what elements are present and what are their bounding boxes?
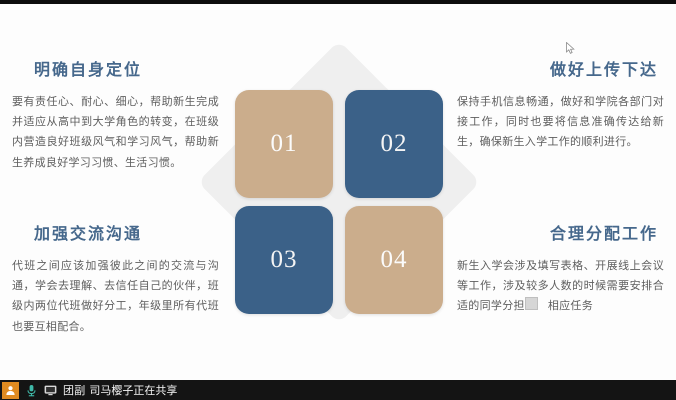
tile-01: 01 xyxy=(235,90,333,198)
tile-01-number: 01 xyxy=(271,130,298,158)
tile-02-number: 02 xyxy=(381,130,408,158)
microphone-button[interactable] xyxy=(25,383,38,397)
quadrant-top-left: 明确自身定位 要有责任心、耐心、细心，帮助新生完成并适应从高中到大学角色的转变，… xyxy=(12,62,219,173)
selection-artifact-icon xyxy=(525,297,538,310)
avatar[interactable] xyxy=(2,382,19,399)
quadrant-top-right-body: 保持手机信息畅通，做好和学院各部门对接工作，同时也要将信息准确传达给新生，确保新… xyxy=(457,92,664,153)
quadrant-bottom-right-body-tail: 相应任务 xyxy=(548,300,593,312)
tile-04-number: 04 xyxy=(381,246,408,274)
quadrant-top-right-title: 做好上传下达 xyxy=(457,62,664,80)
quadrant-top-left-body: 要有责任心、耐心、细心，帮助新生完成并适应从高中到大学角色的转变，在班级内营造良… xyxy=(12,92,219,173)
mouse-cursor-icon xyxy=(566,42,575,54)
quadrant-bottom-right-title: 合理分配工作 xyxy=(457,226,664,244)
tile-02: 02 xyxy=(345,90,443,198)
quadrant-bottom-right: 合理分配工作 新生入学会涉及填写表格、开展线上会议等工作，涉及较多人数的时候需要… xyxy=(457,226,664,317)
quadrant-bottom-left-title: 加强交流沟通 xyxy=(12,226,219,244)
quadrant-top-left-title: 明确自身定位 xyxy=(12,62,219,80)
tile-03: 03 xyxy=(235,206,333,314)
quadrant-bottom-left-body: 代班之间应该加强彼此之间的交流与沟通，学会去理解、去信任自己的伙伴，班级内两位代… xyxy=(12,256,219,337)
share-role-label: 团副 xyxy=(63,382,85,398)
screen-capture: 01 02 03 04 明确自身定位 要有责任心、耐心、细心，帮助新生完成并适应… xyxy=(0,0,676,400)
person-icon xyxy=(5,385,16,396)
share-status-text: 司马樱子正在共享 xyxy=(89,382,177,398)
microphone-icon xyxy=(26,384,37,397)
tile-03-number: 03 xyxy=(271,246,298,274)
screen-share-bar: 团副 司马樱子正在共享 xyxy=(0,380,676,400)
presentation-slide: 01 02 03 04 明确自身定位 要有责任心、耐心、细心，帮助新生完成并适应… xyxy=(0,4,676,380)
quadrant-top-right: 做好上传下达 保持手机信息畅通，做好和学院各部门对接工作，同时也要将信息准确传达… xyxy=(457,62,664,153)
quadrant-bottom-right-body: 新生入学会涉及填写表格、开展线上会议等工作，涉及较多人数的时候需要安排合适的同学… xyxy=(457,256,664,317)
share-screen-button[interactable] xyxy=(44,383,57,397)
tile-cluster: 01 02 03 04 xyxy=(228,62,450,302)
tile-04: 04 xyxy=(345,206,443,314)
quadrant-bottom-left: 加强交流沟通 代班之间应该加强彼此之间的交流与沟通，学会去理解、去信任自己的伙伴… xyxy=(12,226,219,337)
monitor-icon xyxy=(44,385,57,396)
